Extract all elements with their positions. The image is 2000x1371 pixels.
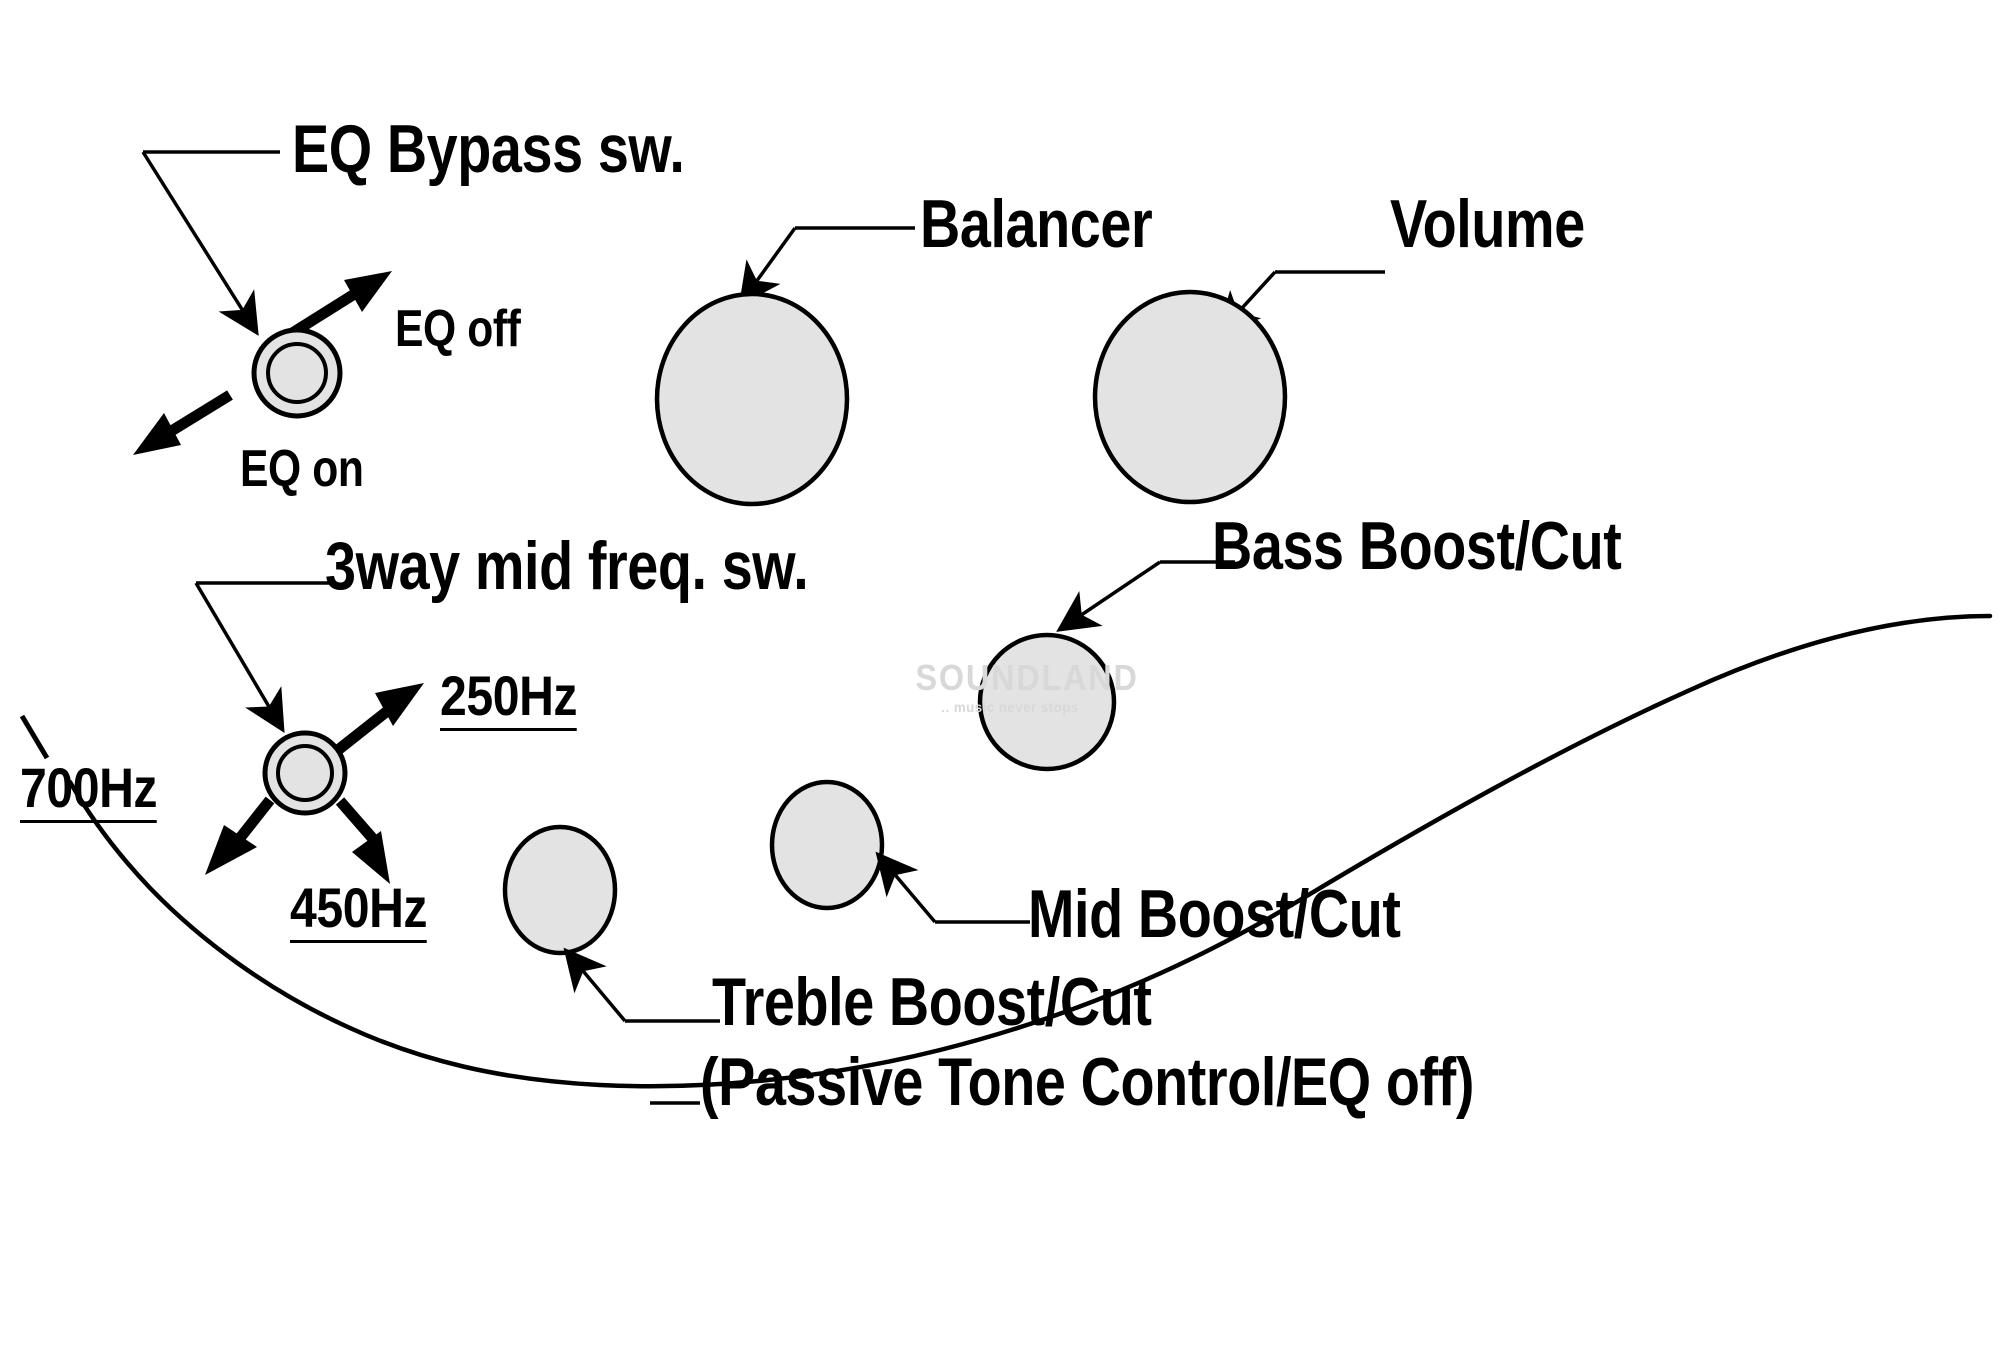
label-mid-boost-cut: Mid Boost/Cut (1028, 880, 1401, 948)
midfreq-switch-inner (278, 746, 332, 800)
mid-knob-shape (772, 782, 882, 908)
diagram-canvas: EQ Bypass sw. EQ off EQ on Balancer Volu… (0, 0, 2000, 1371)
label-treble-boost-cut: Treble Boost/Cut (712, 968, 1152, 1036)
label-bass-boost-cut: Bass Boost/Cut (1212, 512, 1621, 580)
balancer-knob-shape (657, 294, 847, 504)
balancer-leader-arrow (743, 228, 795, 300)
label-balancer: Balancer (920, 190, 1152, 258)
label-3way-mid-freq-sw: 3way mid freq. sw. (325, 532, 808, 600)
mid-leader-arrow (880, 857, 935, 922)
label-treble-passive-note: (Passive Tone Control/EQ off) (700, 1048, 1474, 1116)
eq-on-arrowhead (133, 413, 181, 455)
treble-leader-arrow (568, 953, 625, 1021)
label-freq-450hz: 450Hz (290, 880, 427, 943)
bass-leader-arrow (1062, 562, 1160, 628)
midfreq-leader-arrow (196, 583, 281, 727)
eq-bypass-switch-inner (268, 344, 326, 402)
label-eq-on: EQ on (240, 443, 363, 495)
eq-off-arrowhead (344, 271, 392, 312)
label-eq-off: EQ off (395, 303, 520, 355)
eq-bypass-leader-arrow (143, 152, 255, 330)
volume-knob-shape (1095, 292, 1285, 502)
label-volume: Volume (1390, 190, 1585, 258)
label-freq-700hz: 700Hz (20, 760, 157, 823)
label-eq-bypass-sw: EQ Bypass sw. (292, 115, 684, 183)
stray-tick-mark (22, 716, 47, 758)
label-freq-250hz: 250Hz (440, 668, 577, 731)
treble-knob-shape (505, 827, 615, 953)
bass-knob-shape (980, 635, 1114, 769)
